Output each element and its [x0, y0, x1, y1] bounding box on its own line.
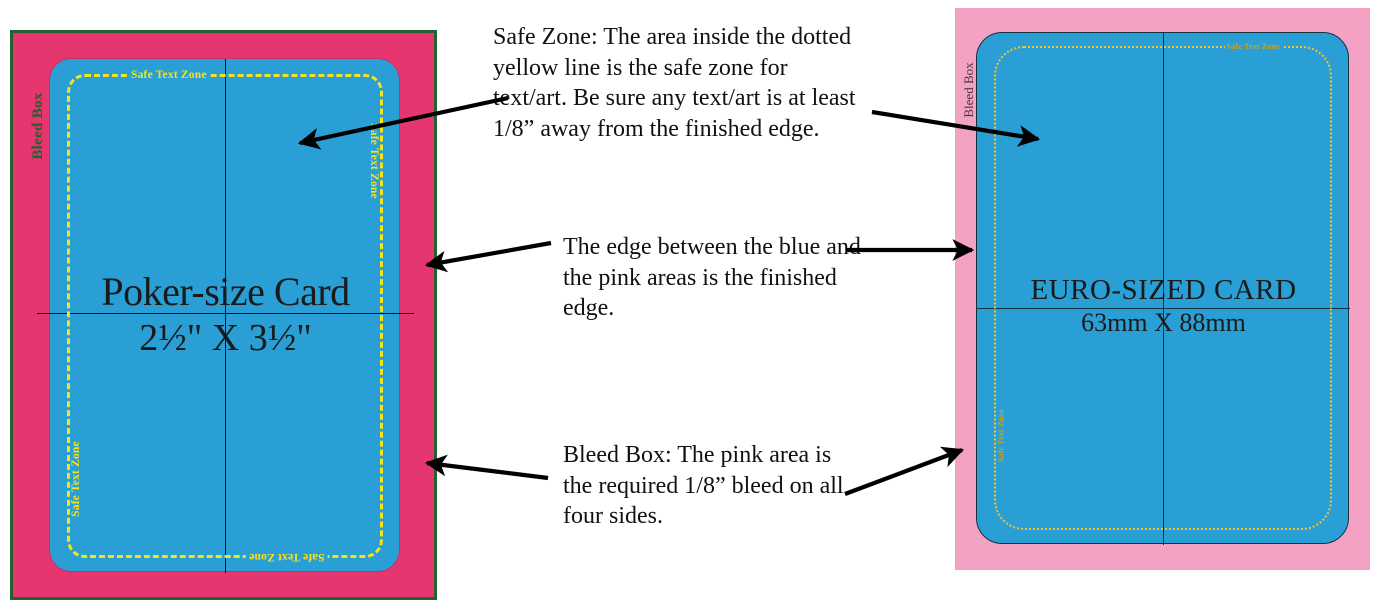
- poker-safe-text-zone-boundary: Safe Text Zone Safe Text Zone Safe Text …: [67, 74, 383, 558]
- poker-horizontal-guide-line: [37, 313, 414, 314]
- poker-card-caption: Poker-size Card 2½" X 3½": [50, 269, 401, 361]
- euro-safe-zone-label-left: Safe Text Zone: [997, 403, 1006, 469]
- poker-safe-zone-label-bottom: Safe Text Zone: [246, 551, 328, 563]
- poker-card-bleed-box: Bleed Box Safe Text Zone Safe Text Zone …: [10, 30, 437, 600]
- annotation-safe-zone: Safe Zone: The area inside the dotted ye…: [493, 22, 861, 144]
- poker-card-dimensions: 2½" X 3½": [50, 315, 401, 361]
- diagram-canvas: Bleed Box Safe Text Zone Safe Text Zone …: [0, 0, 1374, 611]
- poker-card-title: Poker-size Card: [50, 269, 401, 315]
- poker-safe-zone-label-top: Safe Text Zone: [128, 69, 210, 81]
- arrow-bleed-box-left: [427, 463, 548, 478]
- euro-safe-text-zone-boundary: Safe Text Zone Safe Text Zone: [994, 46, 1332, 530]
- poker-bleed-box-label: Bleed Box: [30, 76, 48, 176]
- annotation-bleed-box: Bleed Box: The pink area is the required…: [563, 440, 863, 532]
- poker-vertical-guide-line: [225, 59, 226, 573]
- euro-safe-zone-label-top: Safe Text Zone: [1225, 42, 1282, 51]
- euro-card-title: EURO-SIZED CARD: [977, 273, 1350, 307]
- annotation-finished-edge: The edge between the blue and the pink a…: [563, 232, 863, 324]
- euro-card-bleed-box: Bleed Box Safe Text Zone Safe Text Zone …: [955, 8, 1370, 570]
- euro-card-finished-area: Safe Text Zone Safe Text Zone EURO-SIZED…: [976, 32, 1349, 544]
- euro-vertical-guide-line: [1163, 33, 1164, 545]
- euro-card-dimensions: 63mm X 88mm: [977, 307, 1350, 339]
- poker-safe-zone-label-right: Safe Text Zone: [368, 115, 380, 207]
- euro-card-caption: EURO-SIZED CARD 63mm X 88mm: [977, 273, 1350, 339]
- arrow-finished-edge-left: [427, 243, 551, 265]
- poker-safe-zone-label-left: Safe Text Zone: [70, 433, 82, 525]
- poker-card-finished-area: Safe Text Zone Safe Text Zone Safe Text …: [49, 58, 400, 572]
- euro-bleed-box-label: Bleed Box: [961, 50, 977, 130]
- euro-horizontal-guide-line: [977, 308, 1350, 309]
